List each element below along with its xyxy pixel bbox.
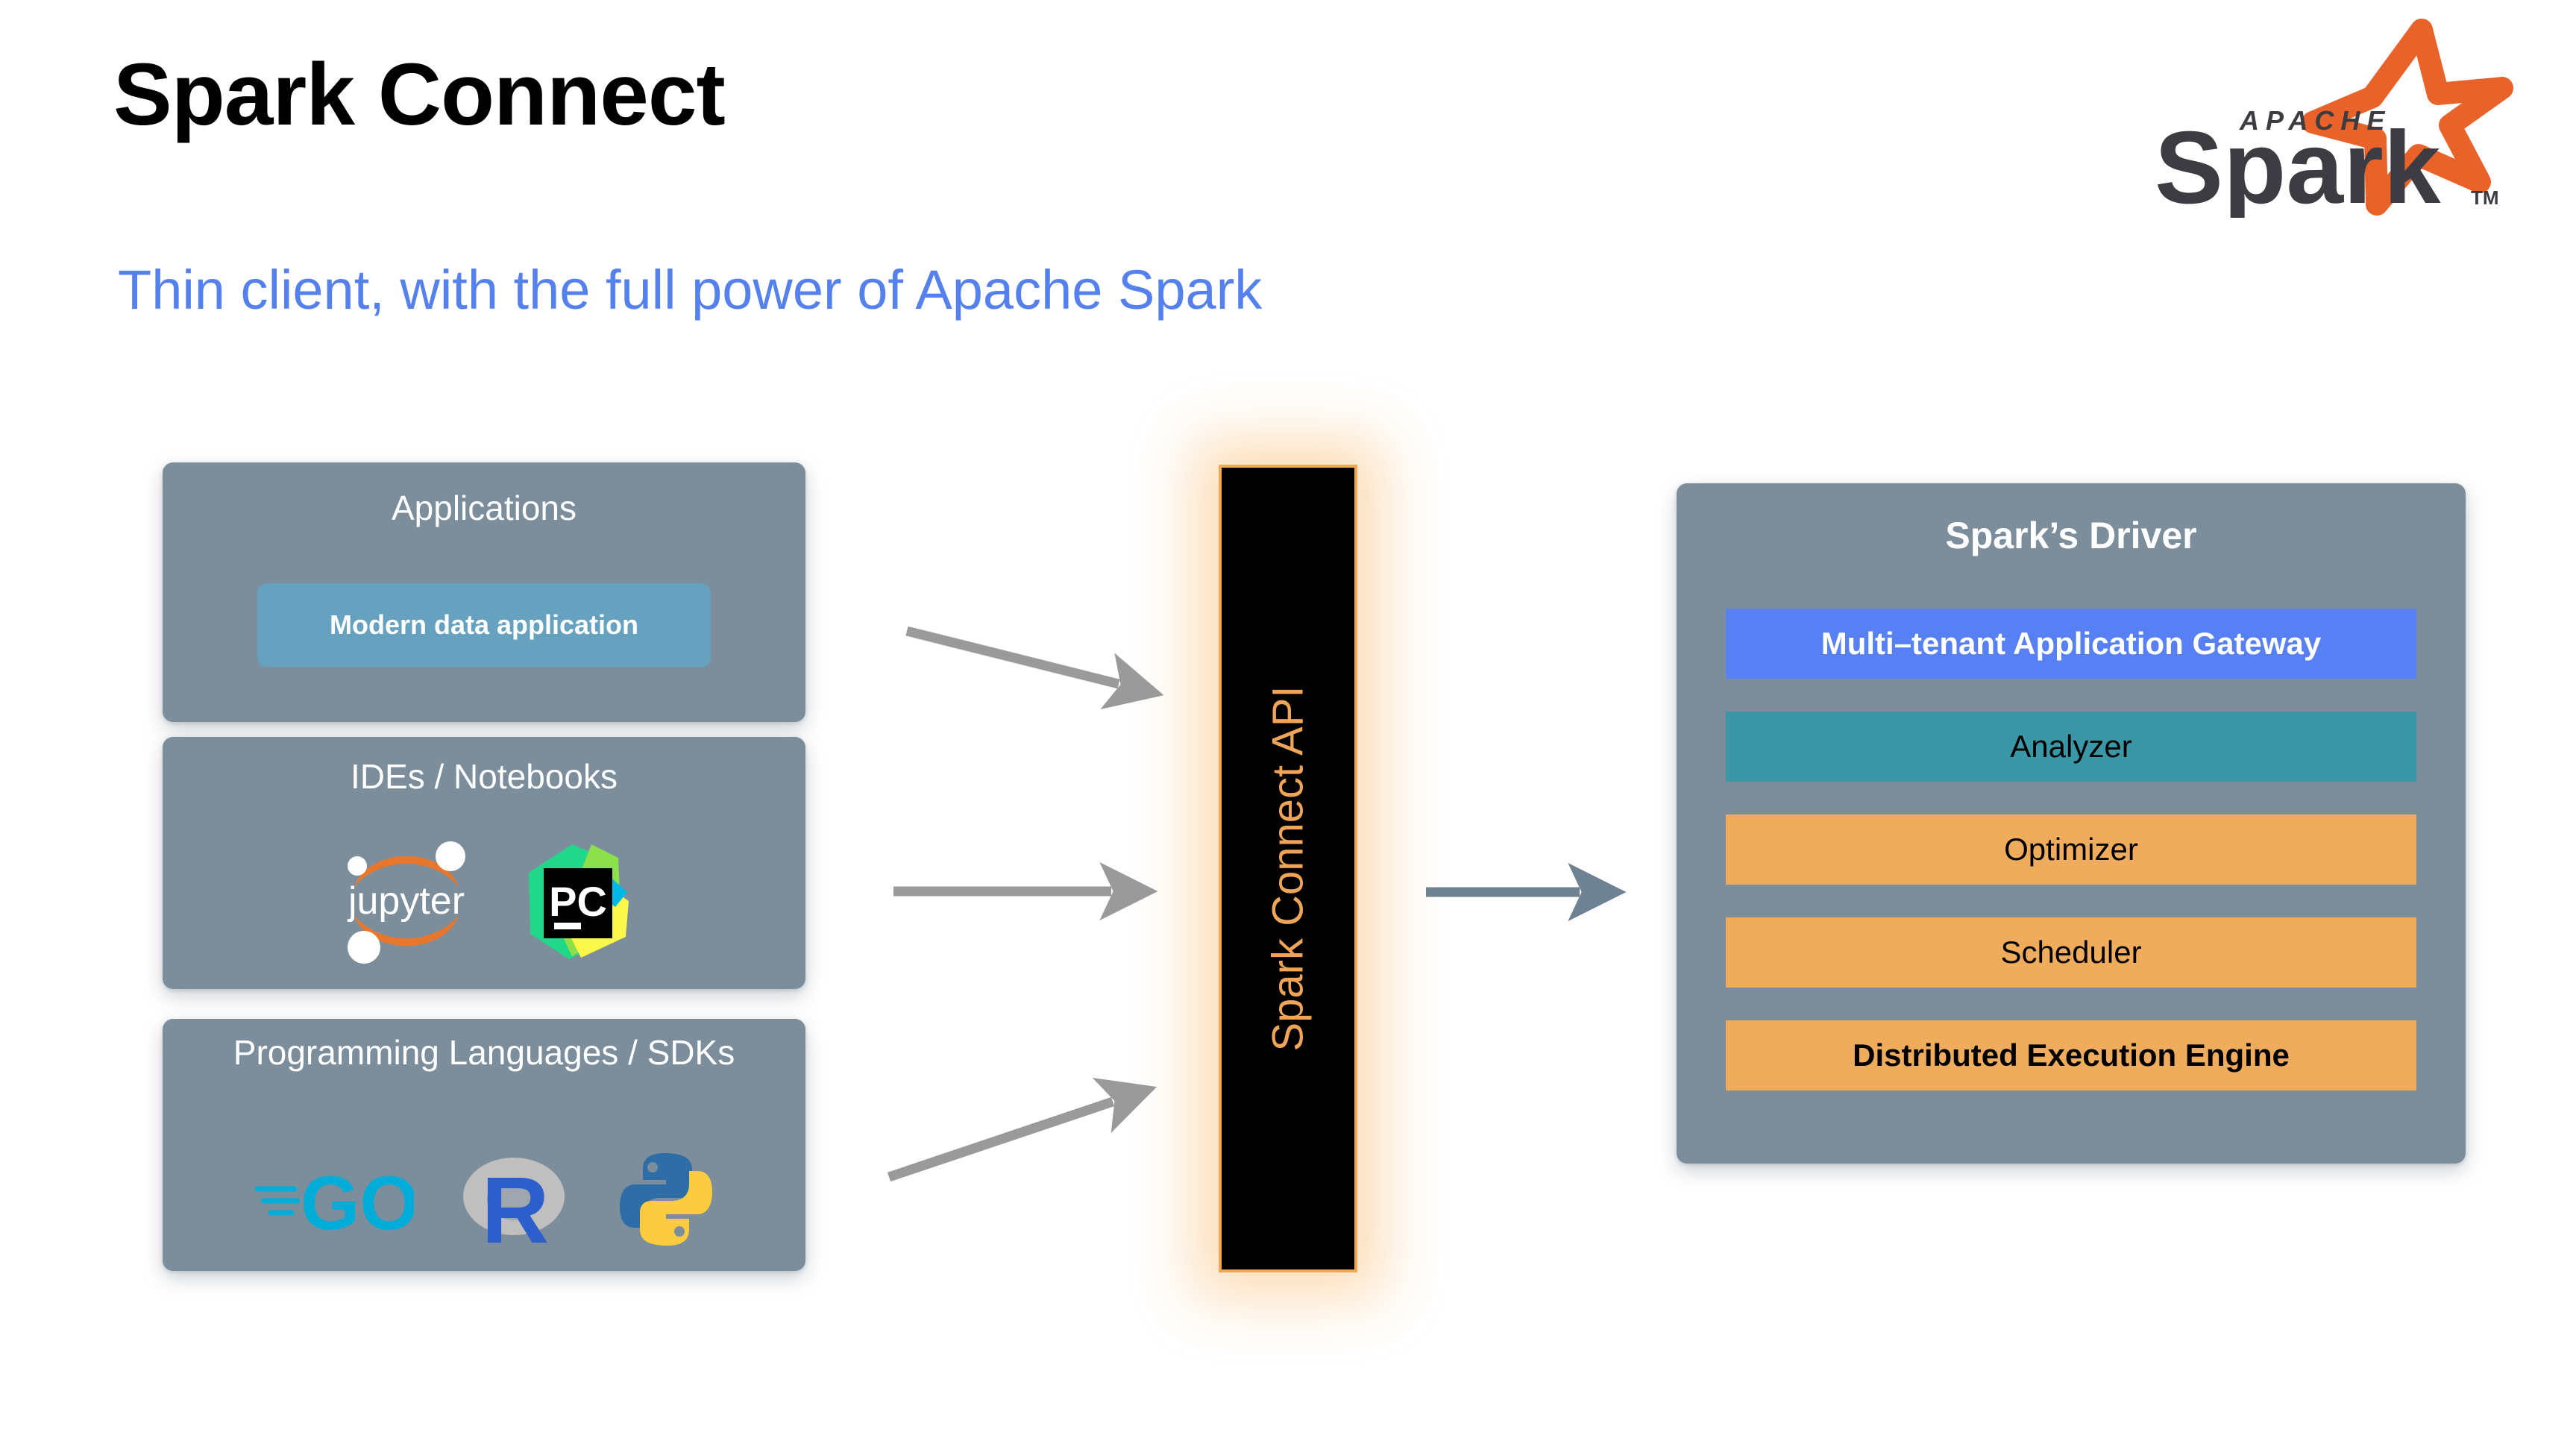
apache-spark-logo: APACHE Spark TM bbox=[2129, 16, 2517, 218]
r-logo: R bbox=[460, 1147, 572, 1252]
jupyter-dot-topleft bbox=[348, 856, 367, 876]
driver-row-analyzer[interactable]: Analyzer bbox=[1726, 712, 2416, 782]
go-speed-lines bbox=[257, 1189, 298, 1213]
panel-spark-driver[interactable]: Spark’s Driver Multi–tenant Application … bbox=[1677, 483, 2466, 1164]
driver-row-gateway[interactable]: Multi–tenant Application Gateway bbox=[1726, 609, 2416, 679]
r-letter: R bbox=[482, 1158, 550, 1252]
jupyter-wordmark: jupyter bbox=[347, 879, 465, 923]
jupyter-dot-bottomleft bbox=[348, 931, 380, 964]
chip-modern-data-application[interactable]: Modern data application bbox=[257, 583, 711, 667]
jupyter-logo: jupyter bbox=[333, 832, 480, 970]
page-subtitle: Thin client, with the full power of Apac… bbox=[118, 263, 1262, 318]
spark-connect-api-label: Spark Connect API bbox=[1263, 685, 1313, 1051]
ide-logo-row: jupyter PC bbox=[163, 826, 805, 976]
spark-connect-api-bar[interactable]: Spark Connect API bbox=[1219, 465, 1357, 1272]
panel-ides-notebooks[interactable]: IDEs / Notebooks jupyter PC bbox=[163, 737, 805, 989]
panel-languages-title: Programming Languages / SDKs bbox=[163, 1034, 805, 1073]
panel-ides-title: IDEs / Notebooks bbox=[163, 758, 805, 797]
panel-programming-languages[interactable]: Programming Languages / SDKs GO R bbox=[163, 1019, 805, 1271]
logo-trademark: TM bbox=[2471, 186, 2499, 209]
python-logo bbox=[618, 1150, 714, 1249]
pycharm-badge-label: PC bbox=[549, 878, 607, 925]
jupyter-dot-topright bbox=[436, 841, 465, 871]
panel-applications[interactable]: Applications Modern data application bbox=[163, 462, 805, 722]
language-logo-row: GO R bbox=[163, 1140, 805, 1259]
go-wordmark: GO bbox=[301, 1161, 414, 1244]
pycharm-logo: PC bbox=[523, 838, 635, 964]
panel-driver-title: Spark’s Driver bbox=[1677, 515, 2466, 556]
arrow-applications-to-api bbox=[907, 631, 1119, 684]
pycharm-underscore bbox=[554, 923, 581, 929]
driver-row-distributed-execution-engine[interactable]: Distributed Execution Engine bbox=[1726, 1020, 2416, 1090]
panel-applications-title: Applications bbox=[163, 489, 805, 528]
logo-wordmark: Spark bbox=[2155, 110, 2441, 218]
driver-row-optimizer[interactable]: Optimizer bbox=[1726, 814, 2416, 885]
page-title: Spark Connect bbox=[113, 51, 725, 139]
go-logo: GO bbox=[254, 1155, 414, 1244]
driver-row-scheduler[interactable]: Scheduler bbox=[1726, 917, 2416, 988]
arrow-languages-to-api bbox=[889, 1102, 1113, 1177]
